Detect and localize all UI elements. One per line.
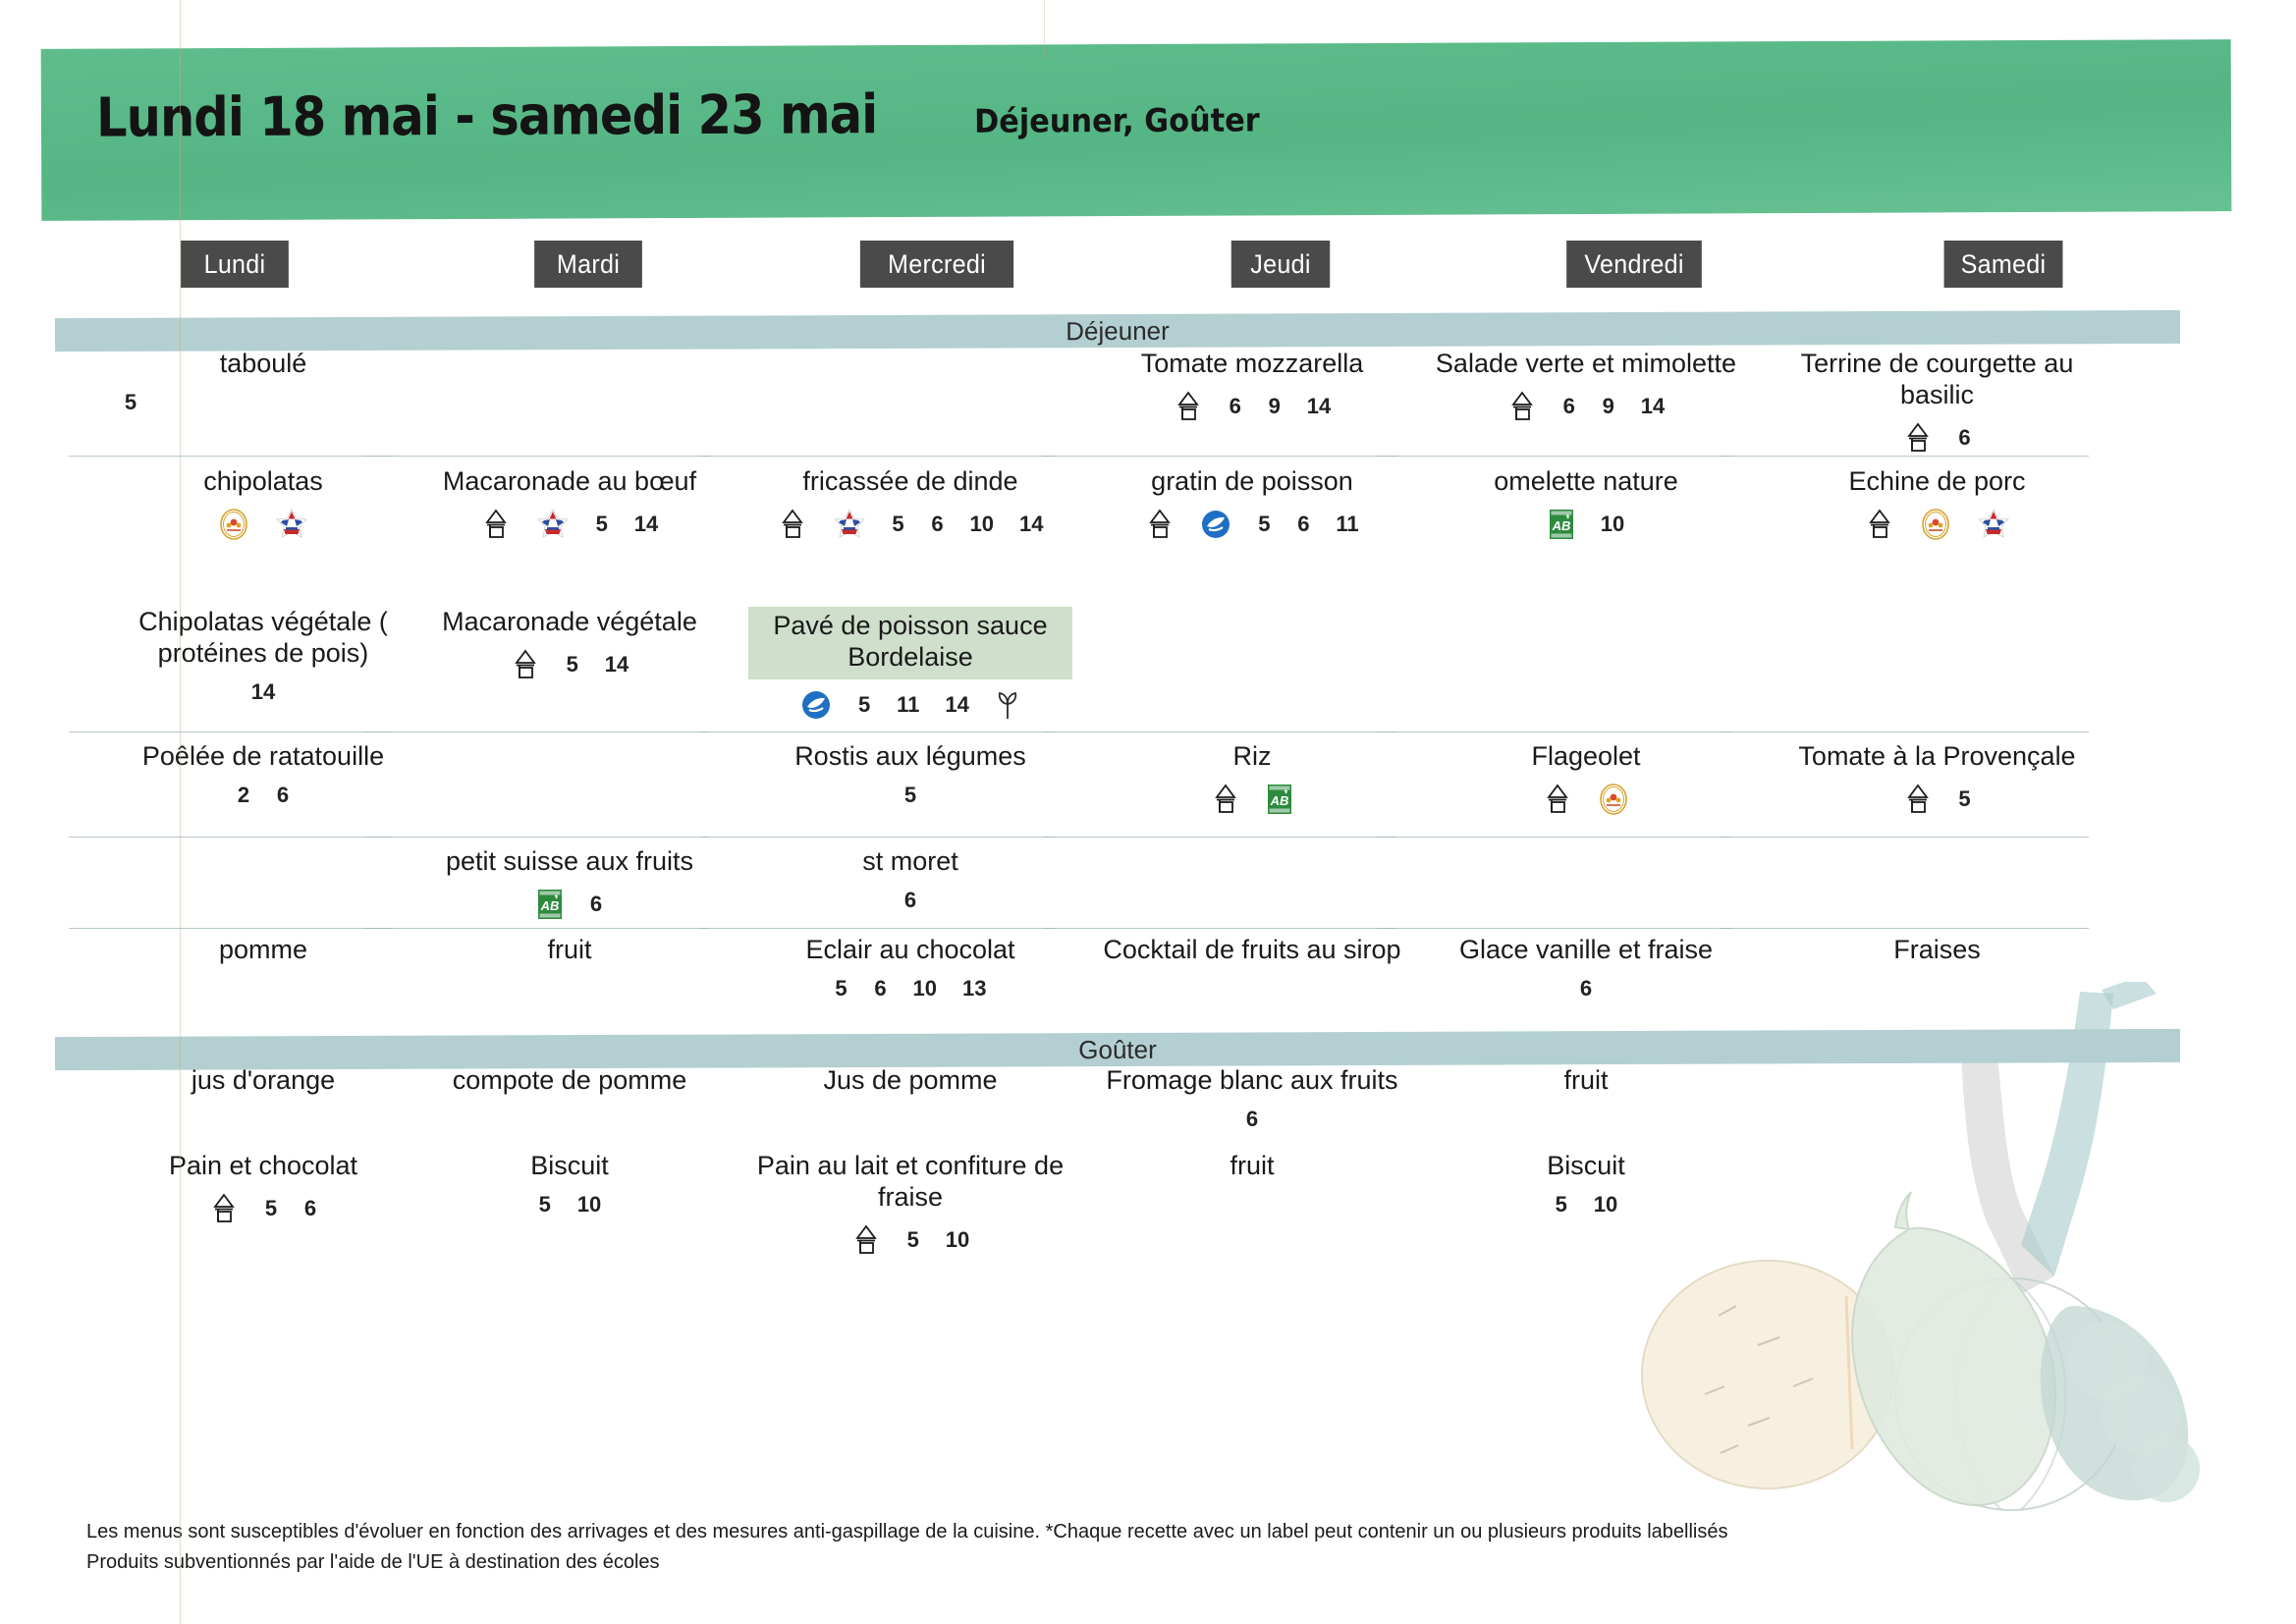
footer-notes: Les menus sont susceptibles d'évoluer en… (86, 1517, 1952, 1578)
viande-francaise-icon (275, 508, 308, 541)
day-tab-label: Jeudi (1250, 249, 1310, 280)
menu-cell-dessert-mardi: fruit (412, 935, 727, 966)
menu-cell-dairy-mercredi: st moret6 (748, 846, 1072, 913)
dish-name: st moret (748, 846, 1072, 878)
local-icon (511, 648, 540, 681)
allergen-number: 11 (1336, 512, 1358, 537)
label-allergen-row: 5 (748, 783, 1072, 808)
allergen-number: 14 (945, 692, 968, 718)
allergen-number: 10 (1594, 1192, 1617, 1218)
allergen-number: 6 (1245, 1107, 1259, 1132)
local-icon (1507, 390, 1537, 423)
row-separator (69, 837, 393, 838)
menu-cell-alt-mardi: Macaronade végétale514 (412, 607, 727, 681)
row-separator (1043, 456, 1396, 457)
row-separator (69, 731, 393, 732)
allergen-number: 5 (124, 390, 137, 415)
dish-name: Tomate à la Provençale (1768, 741, 2106, 773)
menu-cell-starter-jeudi: Tomate mozzarella6914 (1090, 349, 1414, 423)
day-header-row: LundiMardiMercrediJeudiVendrediSamedi (0, 241, 2296, 292)
row-separator (701, 928, 1055, 929)
dish-name: Pavé de poisson sauce Bordelaise (748, 607, 1072, 679)
allergen-number: 14 (605, 652, 629, 677)
day-tab-lundi[interactable]: Lundi (181, 241, 289, 288)
menu-cell-side-lundi: Poêlée de ratatouille26 (116, 741, 410, 808)
label-allergen-row: 5 (116, 390, 410, 415)
dish-name: taboulé (116, 349, 410, 380)
label-allergen-row: 561013 (748, 976, 1072, 1001)
menu-cell-main-mardi: Macaronade au bœuf514 (412, 466, 727, 541)
row-separator (701, 837, 1055, 838)
allergen-number: 5 (906, 1227, 920, 1253)
dish-name: petit suisse aux fruits (412, 846, 727, 878)
menu-cell-side-samedi: Tomate à la Provençale5 (1768, 741, 2106, 816)
label-allergen-row: 56 (116, 1192, 410, 1225)
local-icon (209, 1192, 239, 1225)
day-tab-vendredi[interactable]: Vendredi (1566, 241, 1702, 288)
allergen-number: 6 (903, 888, 917, 913)
allergen-number: 5 (264, 1196, 278, 1221)
sprout-icon (995, 689, 1020, 721)
row-separator (1377, 731, 1730, 732)
menu-cell-side-jeudi: RizAB (1090, 741, 1414, 816)
local-icon (1174, 390, 1203, 423)
local-icon (1903, 421, 1933, 455)
row-separator (69, 456, 393, 457)
svg-text:AB: AB (540, 898, 560, 913)
dish-name: pomme (116, 935, 410, 966)
allergen-number: 10 (970, 512, 994, 537)
label-allergen-row: 510 (748, 1223, 1072, 1257)
dish-name: Pain et chocolat (116, 1151, 410, 1182)
row-separator (1721, 928, 2089, 929)
allergen-number: 14 (1307, 394, 1331, 419)
dish-name: fruit (1424, 1065, 1748, 1097)
label-allergen-row: AB6 (412, 888, 727, 921)
allergen-number: 6 (1958, 425, 1972, 451)
label-allergen-row: 514 (412, 508, 727, 541)
label-allergen-row (116, 508, 410, 541)
day-tab-label: Lundi (204, 249, 266, 280)
day-tab-label: Mardi (557, 249, 620, 280)
dish-name: Tomate mozzarella (1090, 349, 1414, 380)
allergen-number: 5 (835, 976, 848, 1001)
dish-name: compote de pomme (412, 1065, 727, 1097)
dish-name: Eclair au chocolat (748, 935, 1072, 966)
ab-icon: AB (1548, 508, 1575, 541)
dish-name: Salade verte et mimolette (1424, 349, 1748, 380)
allergen-number: 13 (962, 976, 986, 1001)
allergen-number: 6 (303, 1196, 317, 1221)
row-separator (1721, 456, 2089, 457)
menu-cell-dessert-samedi: Fraises (1768, 935, 2106, 966)
menu-cell-drink-vendredi: fruit (1424, 1065, 1748, 1097)
dish-name: Cocktail de fruits au sirop (1090, 935, 1414, 966)
allergen-number: 14 (1019, 512, 1043, 537)
dish-name: Macaronade végétale (412, 607, 727, 638)
local-icon (1865, 508, 1894, 541)
dish-name: Biscuit (412, 1151, 727, 1182)
row-separator (365, 456, 709, 457)
allergen-number: 5 (892, 512, 905, 537)
local-icon (1543, 783, 1572, 816)
footer-line-2: Produits subventionnés par l'aide de l'U… (86, 1547, 1952, 1578)
allergen-number: 5 (903, 783, 917, 808)
menu-cell-dessert-mercredi: Eclair au chocolat561013 (748, 935, 1072, 1001)
row-separator (701, 456, 1055, 457)
allergen-number: 9 (1268, 394, 1282, 419)
footer-line-1: Les menus sont susceptibles d'évoluer en… (86, 1517, 1952, 1547)
dish-name: chipolatas (116, 466, 410, 498)
label-allergen-row: 14 (116, 679, 410, 705)
allergen-number: 2 (237, 783, 250, 808)
allergen-number: 14 (1641, 394, 1665, 419)
menu-cell-starter-lundi: taboulé5 (116, 349, 410, 415)
label-allergen-row: 5 (1768, 783, 2106, 816)
label-allergen-row: 6 (1768, 421, 2106, 455)
allergen-number: 10 (1601, 512, 1624, 537)
seal-icon (1598, 783, 1629, 816)
seal-icon (218, 508, 249, 541)
svg-text:AB: AB (1551, 518, 1570, 533)
allergen-number: 5 (538, 1192, 552, 1218)
seal-icon (1920, 508, 1951, 541)
row-separator (701, 731, 1055, 732)
label-allergen-row: 51114 (748, 689, 1072, 721)
allergen-number: 5 (1257, 512, 1271, 537)
viande-francaise-icon (536, 508, 570, 541)
local-icon (1903, 783, 1933, 816)
dish-name: Jus de pomme (748, 1065, 1072, 1097)
allergen-number: 10 (913, 976, 937, 1001)
menu-cell-dairy-mardi: petit suisse aux fruitsAB6 (412, 846, 727, 921)
scan-fold-line (180, 0, 181, 1624)
row-separator (1721, 837, 2089, 838)
row-separator (365, 837, 709, 838)
scan-fold-line-top (1044, 0, 1045, 59)
allergen-number: 11 (897, 692, 919, 718)
allergen-number: 6 (1579, 976, 1593, 1001)
row-separator (1721, 731, 2089, 732)
dish-name: Fraises (1768, 935, 2106, 966)
allergen-number: 5 (857, 692, 871, 718)
row-separator (365, 731, 709, 732)
label-allergen-row: AB (1090, 783, 1414, 816)
menu-cell-food-vendredi: Biscuit510 (1424, 1151, 1748, 1218)
menu-cell-main-vendredi: omelette natureAB10 (1424, 466, 1748, 541)
menu-cell-food-mardi: Biscuit510 (412, 1151, 727, 1218)
allergen-number: 9 (1602, 394, 1615, 419)
dish-name: Flageolet (1424, 741, 1748, 773)
local-icon (851, 1223, 881, 1257)
local-icon (778, 508, 807, 541)
dish-name: omelette nature (1424, 466, 1748, 498)
label-allergen-row: 26 (116, 783, 410, 808)
msc-icon (1200, 509, 1231, 540)
label-allergen-row: 6914 (1424, 390, 1748, 423)
day-tab-label: Vendredi (1584, 249, 1683, 280)
menu-cell-main-samedi: Echine de porc (1768, 466, 2106, 541)
menu-cell-side-vendredi: Flageolet (1424, 741, 1748, 816)
day-tab-mardi[interactable]: Mardi (534, 241, 642, 288)
allergen-number: 5 (595, 512, 609, 537)
menu-cell-drink-mardi: compote de pomme (412, 1065, 727, 1097)
allergen-number: 14 (251, 679, 275, 705)
svg-text:AB: AB (1270, 793, 1289, 808)
menu-cell-dessert-vendredi: Glace vanille et fraise6 (1424, 935, 1748, 1001)
local-icon (481, 508, 511, 541)
day-tab-mercredi[interactable]: Mercredi (860, 241, 1013, 288)
menu-cell-drink-mercredi: Jus de pomme (748, 1065, 1072, 1097)
label-allergen-row: 514 (412, 648, 727, 681)
allergen-number: 14 (634, 512, 658, 537)
label-allergen-row: 5611 (1090, 508, 1414, 541)
dish-name: fruit (1090, 1151, 1414, 1182)
label-allergen-row: 510 (1424, 1192, 1748, 1218)
dish-name: Biscuit (1424, 1151, 1748, 1182)
allergen-number: 10 (946, 1227, 969, 1253)
row-separator (1043, 731, 1396, 732)
dish-name: Fromage blanc aux fruits (1090, 1065, 1414, 1097)
ab-icon: AB (536, 888, 564, 921)
label-allergen-row: 6 (1090, 1107, 1414, 1132)
dish-name: Macaronade au bœuf (412, 466, 727, 498)
row-separator (1377, 928, 1730, 929)
menu-cell-main-lundi: chipolatas (116, 466, 410, 541)
menu-cell-starter-vendredi: Salade verte et mimolette6914 (1424, 349, 1748, 423)
menu-cell-dessert-jeudi: Cocktail de fruits au sirop (1090, 935, 1414, 966)
local-icon (1211, 783, 1240, 816)
menu-cell-drink-lundi: jus d'orange (116, 1065, 410, 1097)
allergen-number: 6 (874, 976, 888, 1001)
day-tab-label: Samedi (1961, 249, 2047, 280)
menu-cell-food-jeudi: fruit (1090, 1151, 1414, 1182)
row-separator (1377, 837, 1730, 838)
msc-icon (800, 689, 832, 721)
allergen-number: 6 (1296, 512, 1310, 537)
viande-francaise-icon (833, 508, 866, 541)
dish-name: fruit (412, 935, 727, 966)
day-tab-samedi[interactable]: Samedi (1944, 241, 2063, 288)
allergen-number: 5 (1555, 1192, 1568, 1218)
allergen-number: 6 (931, 512, 945, 537)
menu-cell-dessert-lundi: pomme (116, 935, 410, 966)
local-icon (1145, 508, 1175, 541)
label-allergen-row: 561014 (748, 508, 1072, 541)
row-separator (1043, 928, 1396, 929)
dish-name: Terrine de courgette au basilic (1768, 349, 2106, 411)
ab-icon: AB (1266, 783, 1293, 816)
dish-name: Chipolatas végétale ( protéines de pois) (116, 607, 410, 670)
viande-francaise-icon (1977, 508, 2010, 541)
allergen-number: 5 (1958, 786, 1972, 812)
allergen-number: 5 (566, 652, 579, 677)
label-allergen-row: AB10 (1424, 508, 1748, 541)
label-allergen-row: 6 (1424, 976, 1748, 1001)
label-allergen-row (1768, 508, 2106, 541)
label-allergen-row: 6 (748, 888, 1072, 913)
day-tab-label: Mercredi (888, 249, 986, 280)
allergen-number: 10 (577, 1192, 601, 1218)
row-separator (1377, 456, 1730, 457)
dish-name: fricassée de dinde (748, 466, 1072, 498)
dish-name: gratin de poisson (1090, 466, 1414, 498)
menu-cell-food-mercredi: Pain au lait et confiture de fraise510 (748, 1151, 1072, 1257)
dish-name: jus d'orange (116, 1065, 410, 1097)
menu-cell-alt-mercredi: Pavé de poisson sauce Bordelaise51114 (748, 607, 1072, 721)
menu-cell-drink-jeudi: Fromage blanc aux fruits6 (1090, 1065, 1414, 1132)
dish-name: Poêlée de ratatouille (116, 741, 410, 773)
row-separator (1043, 837, 1396, 838)
dish-name: Glace vanille et fraise (1424, 935, 1748, 966)
day-tab-jeudi[interactable]: Jeudi (1231, 241, 1330, 288)
allergen-number: 6 (1562, 394, 1576, 419)
dish-name: Rostis aux légumes (748, 741, 1072, 773)
allergen-number: 6 (276, 783, 290, 808)
menu-cell-side-mercredi: Rostis aux légumes5 (748, 741, 1072, 808)
allergen-number: 6 (1229, 394, 1242, 419)
label-allergen-row: 6914 (1090, 390, 1414, 423)
dish-name: Riz (1090, 741, 1414, 773)
row-separator (365, 928, 709, 929)
menu-cell-starter-samedi: Terrine de courgette au basilic6 (1768, 349, 2106, 455)
label-allergen-row (1424, 783, 1748, 816)
menu-cell-food-lundi: Pain et chocolat56 (116, 1151, 410, 1225)
menu-cell-alt-lundi: Chipolatas végétale ( protéines de pois)… (116, 607, 410, 705)
dish-name: Pain au lait et confiture de fraise (748, 1151, 1072, 1214)
menu-cell-main-mercredi: fricassée de dinde561014 (748, 466, 1072, 541)
dish-name: Echine de porc (1768, 466, 2106, 498)
row-separator (69, 928, 393, 929)
label-allergen-row: 510 (412, 1192, 727, 1218)
menu-cell-main-jeudi: gratin de poisson5611 (1090, 466, 1414, 541)
allergen-number: 6 (589, 892, 603, 917)
